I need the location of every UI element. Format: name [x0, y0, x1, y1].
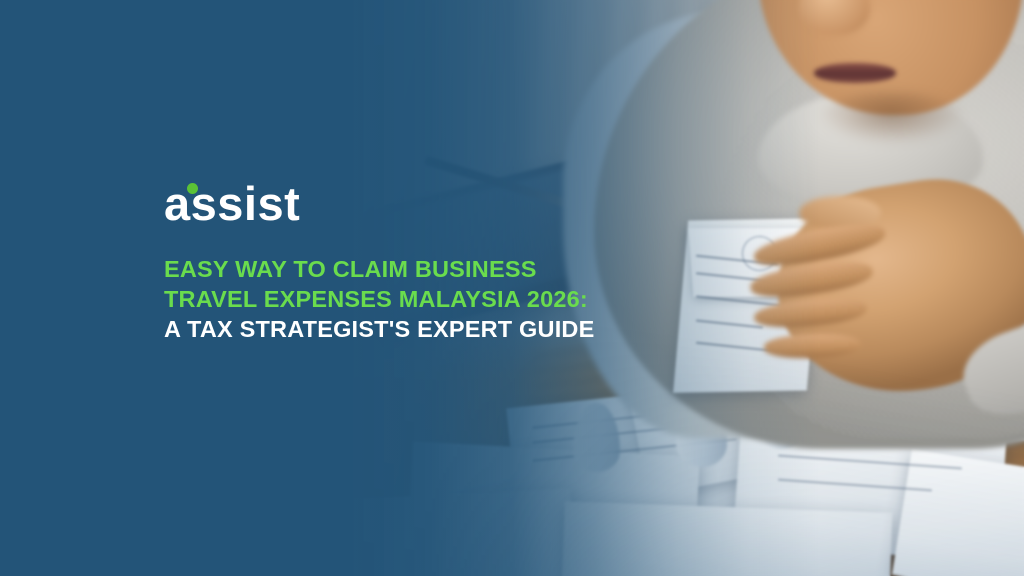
headline-line-3: A TAX STRATEGIST'S EXPERT GUIDE — [164, 314, 684, 344]
headline-line-2: TRAVEL EXPENSES MALAYSIA 2026: — [164, 284, 684, 314]
headline-line-1: EASY WAY TO CLAIM BUSINESS — [164, 254, 684, 284]
banner-content: assist EASY WAY TO CLAIM BUSINESS TRAVEL… — [164, 180, 684, 344]
logo-green-dot-icon — [187, 183, 198, 194]
assist-logo-text: assist — [164, 177, 300, 230]
page-title: EASY WAY TO CLAIM BUSINESS TRAVEL EXPENS… — [164, 254, 684, 344]
blog-banner: assist EASY WAY TO CLAIM BUSINESS TRAVEL… — [0, 0, 1024, 576]
assist-logo[interactable]: assist — [164, 180, 300, 228]
